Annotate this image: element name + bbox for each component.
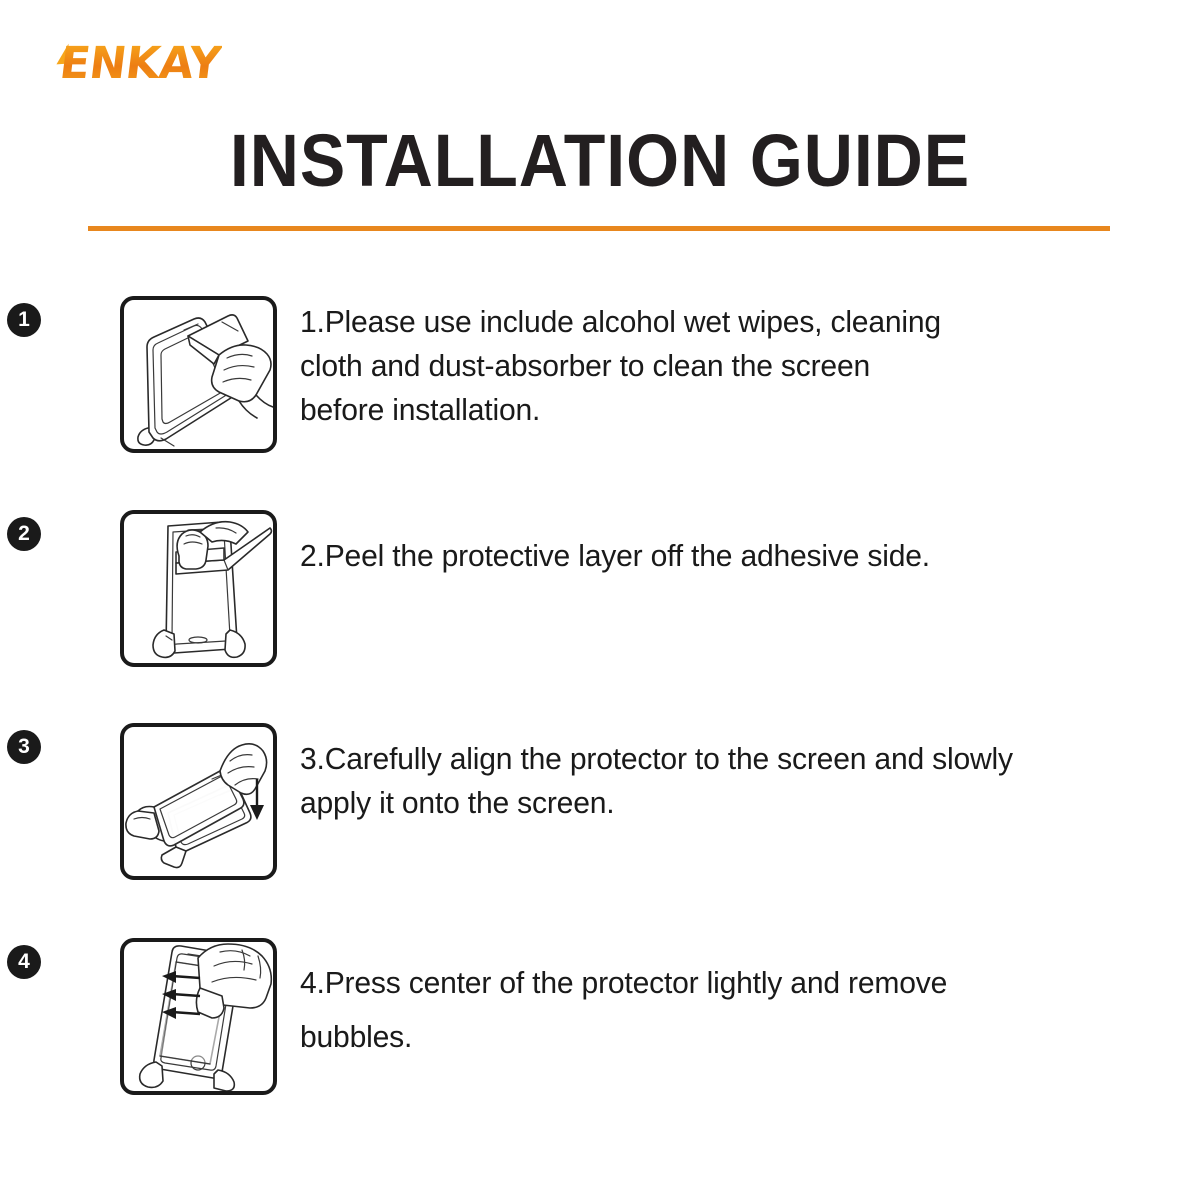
step-4-badge: 4: [7, 945, 41, 979]
step-4-illustration: [120, 938, 277, 1095]
hand-peeling-protective-layer-icon: [124, 514, 273, 663]
brand-wordmark: ENKAY: [57, 42, 223, 86]
step-3-illustration: [120, 723, 277, 880]
down-arrow-head: [250, 805, 264, 820]
step-1-text: 1.Please use include alcohol wet wipes, …: [300, 300, 1105, 432]
hand-pressing-protector-removing-bubbles-icon: [124, 942, 273, 1091]
step-3-badge: 3: [7, 730, 41, 764]
hand-aligning-protector-onto-screen-icon: [124, 727, 273, 876]
hand-wiping-phone-with-cloth-icon: [124, 300, 273, 449]
step-2-illustration: [120, 510, 277, 667]
page-title: INSTALLATION GUIDE: [48, 124, 1152, 198]
header-divider: [88, 226, 1110, 231]
step-2-badge: 2: [7, 517, 41, 551]
step-1-badge: 1: [7, 303, 41, 337]
brand-logo: ENKAY: [60, 40, 220, 88]
step-4-text: 4.Press center of the protector lightly …: [300, 956, 1105, 1065]
step-2-text: 2.Peel the protective layer off the adhe…: [300, 534, 1105, 578]
step-1-illustration: [120, 296, 277, 453]
step-3-text: 3.Carefully align the protector to the s…: [300, 737, 1105, 825]
